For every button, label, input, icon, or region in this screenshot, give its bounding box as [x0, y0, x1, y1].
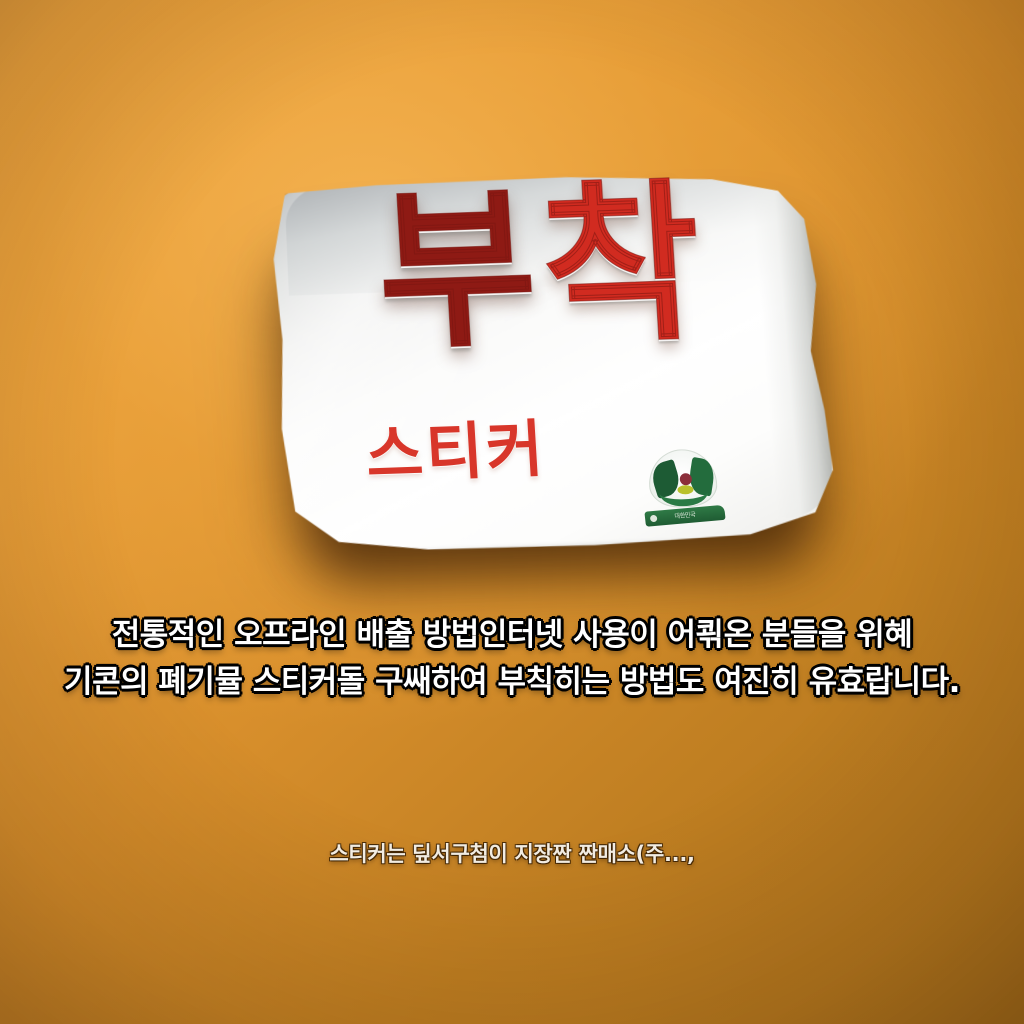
main-caption-line-1: 전통적인 오프라인 배출 방법인터넷 사용이 어쾪온 분들을 위혜	[0, 612, 1024, 659]
emblem-banner: 대한민국	[644, 505, 725, 527]
sticker-image: 부착 스티커 대한민국	[268, 168, 828, 568]
sticker-headline-char-1: 부	[372, 167, 548, 373]
green-crest-emblem-icon: 대한민국	[641, 448, 725, 525]
sticker-subline: 스티커	[275, 415, 637, 489]
slide-canvas: 부착 스티커 대한민국 전통적인 오프라인 배출 방법인터넷 사용이	[0, 0, 1024, 1024]
sticker-headline: 부착	[257, 173, 827, 364]
sticker-content: 부착 스티커 대한민국	[256, 159, 840, 578]
sticker-headline-char-2: 착	[536, 162, 712, 368]
emblem-banner-label: 대한민국	[644, 505, 725, 527]
main-caption: 전통적인 오프라인 배출 방법인터넷 사용이 어쾪온 분들을 위혜 기콘의 폐기…	[0, 612, 1024, 706]
emblem-crest-shape	[647, 448, 718, 508]
main-caption-line-2: 기콘의 폐기뮬 스티커돌 구쌔하여 부칙히는 방법도 여진히 유효랍니다.	[0, 659, 1024, 706]
sub-caption: 스티커는 딮서구첨이 지장짠 짠매소(주...,	[0, 838, 1024, 868]
